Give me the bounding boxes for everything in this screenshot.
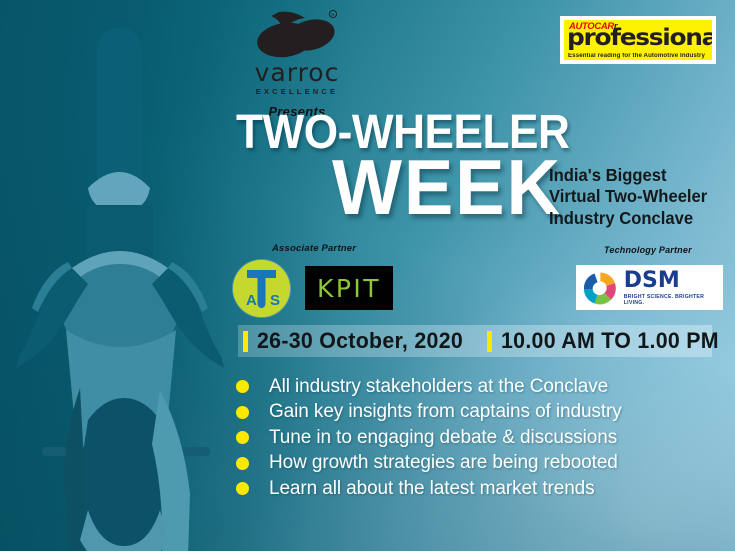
dsm-logo: DSM BRIGHT SCIENCE. BRIGHTER LIVING. (576, 265, 723, 310)
benefits-list: All industry stakeholders at the Conclav… (236, 374, 622, 502)
dsm-wordmark: DSM (624, 270, 723, 292)
varroc-wordmark: varroc (232, 60, 362, 85)
associate-partner-label: Associate Partner (272, 243, 356, 254)
subtitle-line-2: Virtual Two-Wheeler (549, 186, 725, 207)
varroc-mark-icon: R (249, 8, 345, 62)
list-item-label: How growth strategies are being rebooted (269, 452, 618, 474)
varroc-logo: R varroc EXCELLENCE Presents (232, 8, 362, 119)
list-item: Learn all about the latest market trends (236, 476, 622, 502)
kpit-logo: KPIT (305, 266, 393, 310)
list-item: Tune in to engaging debate & discussions (236, 425, 622, 451)
subtitle-line-3: Industry Conclave (549, 208, 725, 229)
bullet-dot-icon (236, 431, 249, 444)
ats-letter-a: A (246, 292, 257, 309)
schedule-bar: 26-30 October, 2020 10.00 AM TO 1.00 PM (238, 325, 712, 357)
autocar-strapline: Essential reading for the Automotive Ind… (568, 53, 705, 59)
page-title: TWO-WHEELER WEEK (236, 110, 556, 223)
autocar-professional-logo: AUTOCARr professional Essential reading … (560, 16, 716, 64)
bullet-dot-icon (236, 457, 249, 470)
date-separator-bar (243, 331, 248, 352)
time-separator-bar (487, 331, 492, 352)
varroc-tagline: EXCELLENCE (232, 87, 362, 96)
ats-letter-s: S (270, 292, 280, 309)
list-item-label: Tune in to engaging debate & discussions (269, 427, 617, 449)
dsm-swirl-icon (582, 270, 619, 306)
list-item-label: All industry stakeholders at the Conclav… (269, 376, 608, 398)
bullet-dot-icon (236, 406, 249, 419)
subtitle: India's Biggest Virtual Two-Wheeler Indu… (549, 165, 725, 229)
list-item: Gain key insights from captains of indus… (236, 400, 622, 426)
ats-logo: A S (233, 260, 290, 317)
list-item-label: Learn all about the latest market trends (269, 478, 595, 500)
list-item-label: Gain key insights from captains of indus… (269, 401, 622, 423)
bullet-dot-icon (236, 482, 249, 495)
list-item: How growth strategies are being rebooted (236, 451, 622, 477)
bullet-dot-icon (236, 380, 249, 393)
event-time: 10.00 AM TO 1.00 PM (501, 328, 719, 354)
svg-text:R: R (332, 12, 335, 17)
technology-partner-label: Technology Partner (604, 245, 692, 255)
promo-poster: R varroc EXCELLENCE Presents AUTOCARr pr… (0, 0, 735, 551)
dsm-tagline: BRIGHT SCIENCE. BRIGHTER LIVING. (624, 294, 723, 306)
list-item: All industry stakeholders at the Conclav… (236, 374, 622, 400)
event-dates: 26-30 October, 2020 (257, 328, 463, 354)
professional-wordmark: professional (567, 27, 712, 50)
title-line-2: WEEK (332, 152, 545, 224)
motorcycle-rider-silhouette (0, 0, 250, 551)
subtitle-line-1: India's Biggest (549, 165, 725, 186)
kpit-wordmark: KPIT (317, 276, 381, 301)
